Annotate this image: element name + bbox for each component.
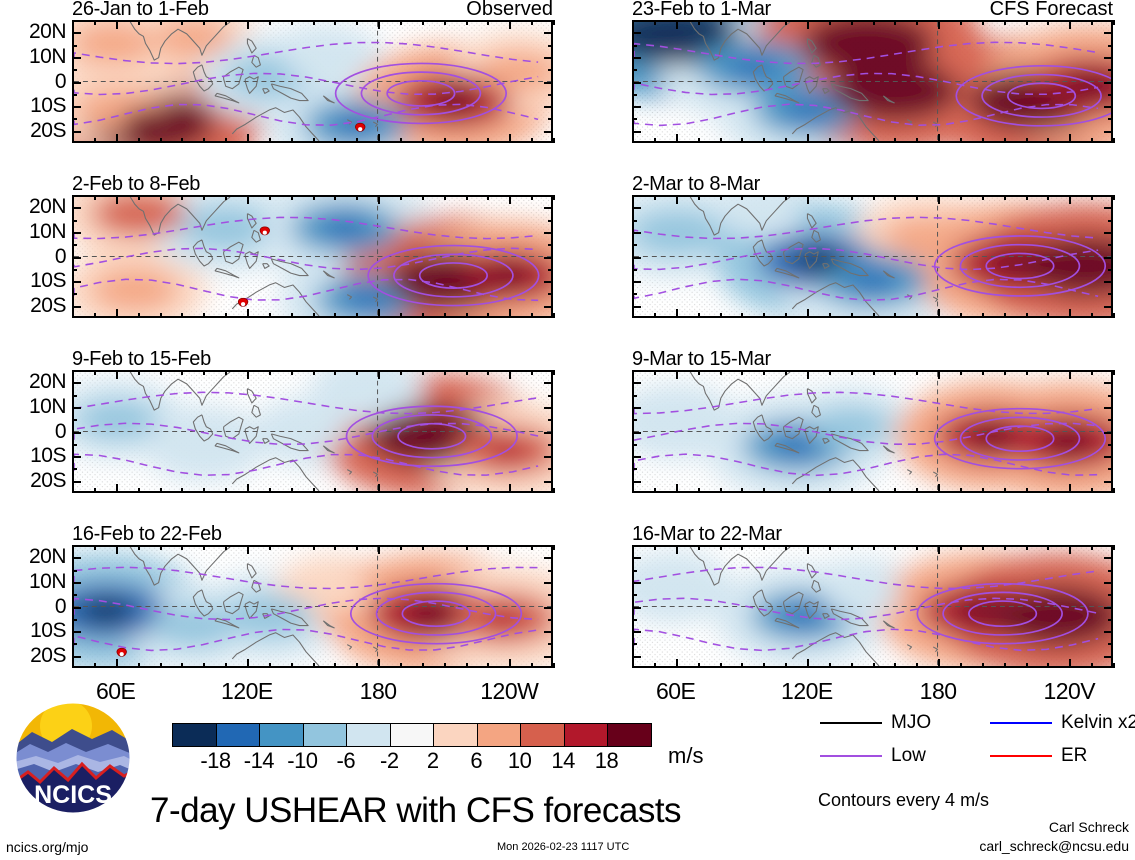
y-tick-label: 10N	[0, 396, 66, 417]
colorbar-unit: m/s	[668, 745, 703, 767]
colorbar-segment	[217, 724, 261, 746]
colorbar-segment	[521, 724, 565, 746]
map-canvas	[72, 370, 553, 493]
colorbar-segment	[608, 724, 651, 746]
y-tick-label: 0	[0, 421, 66, 442]
y-tick-label: 20S	[0, 295, 66, 316]
y-tick-label: 10S	[0, 270, 66, 291]
colorbar-segment	[434, 724, 478, 746]
panel-title: 9-Feb to 15-Feb	[72, 349, 211, 369]
x-tick-label: 180	[344, 680, 412, 703]
colorbar	[172, 723, 652, 747]
y-tick-label: 20N	[0, 196, 66, 217]
y-tick-label: 10N	[0, 571, 66, 592]
colorbar-tick-label: -6	[337, 750, 356, 772]
figure-title: 7-day USHEAR with CFS forecasts	[150, 793, 681, 828]
y-tick-label: 10N	[0, 221, 66, 242]
map-canvas	[72, 195, 553, 318]
colorbar-tick-label: 6	[470, 750, 482, 772]
map-canvas	[632, 20, 1113, 143]
colorbar-tick-label: 14	[551, 750, 574, 772]
footer-author: Carl Schreck	[1049, 820, 1129, 835]
legend-item-kelvin-x2: Kelvin x2	[990, 713, 1135, 732]
colorbar-tick-label: -10	[287, 750, 317, 772]
x-tick-label: 120E	[213, 680, 281, 703]
panel-title: 16-Mar to 22-Mar	[632, 524, 782, 544]
map-panel-1: 26-Jan to 1-FebObserved	[72, 20, 553, 143]
panel-title: 26-Jan to 1-Feb	[72, 0, 209, 19]
colorbar-segment	[260, 724, 304, 746]
y-tick-label: 10S	[0, 620, 66, 641]
legend-label: Low	[891, 746, 926, 765]
y-tick-label: 20S	[0, 645, 66, 666]
map-panel-6: 2-Mar to 8-Mar	[632, 195, 1113, 318]
y-tick-label: 20S	[0, 470, 66, 491]
map-panel-5: 23-Feb to 1-MarCFS Forecast	[632, 20, 1113, 143]
logo-text: NCICS	[34, 781, 112, 809]
x-tick-label: 60E	[642, 680, 710, 703]
colorbar-tick-label: 2	[427, 750, 439, 772]
x-tick-label: 120E	[773, 680, 841, 703]
map-panel-4: 16-Feb to 22-Feb	[72, 545, 553, 668]
colorbar-segment	[304, 724, 348, 746]
colorbar-segment	[173, 724, 217, 746]
figure-root: 26-Jan to 1-FebObserved 2-Feb to 8-Feb	[0, 0, 1135, 860]
footer-email[interactable]: carl_schreck@ncsu.edu	[979, 839, 1129, 854]
colorbar-tick-label: 18	[595, 750, 618, 772]
panel-title: 2-Mar to 8-Mar	[632, 174, 760, 194]
y-tick-label: 20N	[0, 21, 66, 42]
colorbar-segment	[478, 724, 522, 746]
legend-line-swatch	[990, 755, 1052, 757]
y-tick-label: 0	[0, 246, 66, 267]
legend-label: ER	[1061, 746, 1087, 765]
contour-legend: MJOKelvin x2LowER	[820, 713, 1120, 773]
legend-line-swatch	[820, 755, 882, 757]
y-tick-label: 20N	[0, 546, 66, 567]
colorbar-tick-labels: -18-14-10-6-226101418	[172, 750, 650, 774]
panel-title: 16-Feb to 22-Feb	[72, 524, 222, 544]
footer-timestamp: Mon 2026-02-23 1117 UTC	[497, 842, 629, 853]
x-tick-label: 120V	[1035, 680, 1103, 703]
legend-item-mjo: MJO	[820, 713, 931, 732]
panel-title: 23-Feb to 1-Mar	[632, 0, 771, 19]
colorbar-tick-label: -2	[380, 750, 399, 772]
panel-title: 9-Mar to 15-Mar	[632, 349, 771, 369]
map-canvas	[632, 370, 1113, 493]
map-canvas	[72, 20, 553, 143]
legend-label: Kelvin x2	[1061, 713, 1135, 732]
map-canvas	[72, 545, 553, 668]
legend-line-swatch	[990, 722, 1052, 724]
y-tick-label: 20S	[0, 120, 66, 141]
panel-column-header: CFS Forecast	[990, 0, 1113, 19]
map-canvas	[632, 195, 1113, 318]
colorbar-tick-label: -14	[244, 750, 274, 772]
colorbar-segment	[347, 724, 391, 746]
y-tick-label: 10S	[0, 445, 66, 466]
colorbar-tick-label: -18	[200, 750, 230, 772]
colorbar-tick-label: 10	[508, 750, 531, 772]
map-panel-2: 2-Feb to 8-Feb	[72, 195, 553, 318]
y-tick-label: 10S	[0, 95, 66, 116]
panel-column-header: Observed	[466, 0, 553, 19]
y-tick-label: 0	[0, 71, 66, 92]
colorbar-segment	[565, 724, 609, 746]
ncics-logo: NCICS	[14, 702, 132, 814]
legend-item-er: ER	[990, 746, 1087, 765]
footer-site[interactable]: ncics.org/mjo	[6, 840, 88, 854]
legend-item-low: Low	[820, 746, 926, 765]
y-tick-label: 10N	[0, 46, 66, 67]
legend-note: Contours every 4 m/s	[818, 791, 989, 809]
map-panel-7: 9-Mar to 15-Mar	[632, 370, 1113, 493]
panel-title: 2-Feb to 8-Feb	[72, 174, 200, 194]
map-canvas	[632, 545, 1113, 668]
map-panel-8: 16-Mar to 22-Mar	[632, 545, 1113, 668]
x-tick-label: 60E	[82, 680, 150, 703]
x-tick-label: 120W	[475, 680, 543, 703]
x-tick-label: 180	[904, 680, 972, 703]
y-tick-label: 0	[0, 596, 66, 617]
map-panel-3: 9-Feb to 15-Feb	[72, 370, 553, 493]
legend-label: MJO	[891, 713, 931, 732]
legend-line-swatch	[820, 722, 882, 724]
colorbar-segment	[391, 724, 435, 746]
y-tick-label: 20N	[0, 371, 66, 392]
